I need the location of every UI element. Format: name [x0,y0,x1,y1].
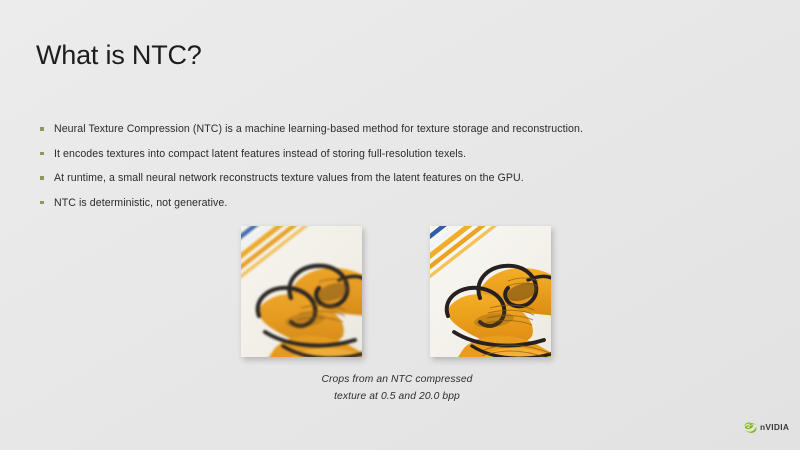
square-bullet-icon [40,176,44,180]
figure-caption-line-2: texture at 0.5 and 20.0 bpp [247,388,547,405]
list-item: Neural Texture Compression (NTC) is a ma… [38,122,738,136]
nvidia-eye-icon [744,422,757,433]
slide-canvas: What is NTC? Neural Texture Compression … [0,0,800,450]
ntc-crop-low-bitrate [241,226,362,357]
list-item: NTC is deterministic, not generative. [38,196,738,210]
ntc-crop-high-bitrate [430,226,551,357]
list-item-label: NTC is deterministic, not generative. [54,196,738,210]
ceramic-texture-illustration [241,226,362,357]
list-item: It encodes textures into compact latent … [38,147,738,161]
list-item-label: It encodes textures into compact latent … [54,147,738,161]
square-bullet-icon [40,201,44,205]
page-title: What is NTC? [36,39,202,71]
list-item-label: Neural Texture Compression (NTC) is a ma… [54,122,738,136]
square-bullet-icon [40,152,44,156]
nvidia-logo: nVIDIA [744,420,790,434]
figure-caption: Crops from an NTC compressed texture at … [247,371,547,405]
bullet-list: Neural Texture Compression (NTC) is a ma… [38,122,738,220]
square-bullet-icon [40,127,44,131]
ceramic-texture-illustration [430,226,551,357]
list-item: At runtime, a small neural network recon… [38,171,738,185]
list-item-label: At runtime, a small neural network recon… [54,171,738,185]
figure-caption-line-1: Crops from an NTC compressed [247,371,547,388]
nvidia-wordmark: nVIDIA [760,422,789,433]
